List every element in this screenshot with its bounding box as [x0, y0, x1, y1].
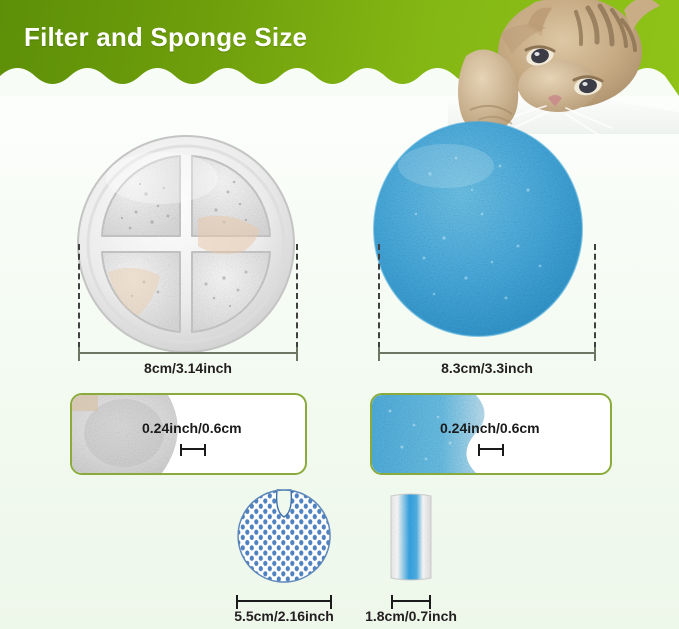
sponge-thickness-label: 0.24inch/0.6cm	[440, 420, 540, 436]
filter-width-dimension-line	[78, 352, 298, 354]
filter-width-label: 8cm/3.14inch	[78, 360, 298, 376]
infographic-page: Filter and Sponge Size	[0, 0, 679, 629]
roll-width-label: 1.8cm/0.7inch	[341, 608, 481, 624]
filter-guide-right	[296, 244, 298, 348]
product-stage: 8cm/3.14inch	[0, 96, 679, 629]
mesh-disc-width-dimension-line	[236, 600, 332, 602]
sponge-width-dimension-line	[378, 352, 596, 354]
page-title: Filter and Sponge Size	[24, 22, 307, 53]
carbon-filter-disc-image	[74, 132, 298, 356]
roll-width-dimension-line	[391, 600, 431, 602]
sponge-guide-left	[378, 244, 380, 348]
filter-guide-left	[78, 244, 80, 348]
mesh-disc-image	[236, 488, 332, 584]
sponge-thickness-callout: 0.24inch/0.6cm	[370, 393, 612, 475]
sponge-width-label: 8.3cm/3.3inch	[378, 360, 596, 376]
filter-thickness-label: 0.24inch/0.6cm	[142, 420, 242, 436]
sponge-guide-right	[594, 244, 596, 348]
blue-sponge-disc-image	[372, 118, 584, 340]
sponge-thickness-marker	[478, 448, 504, 450]
filter-thickness-callout: 0.24inch/0.6cm	[70, 393, 307, 475]
layered-filter-roll-image	[388, 492, 434, 582]
filter-thickness-marker	[180, 448, 206, 450]
mesh-disc-width-label: 5.5cm/2.16inch	[214, 608, 354, 624]
